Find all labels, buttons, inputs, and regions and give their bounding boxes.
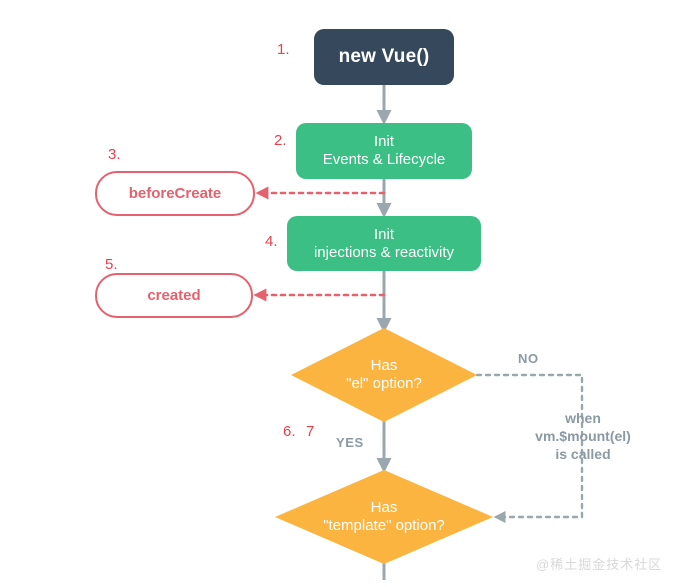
node-new-vue-label: new Vue() xyxy=(339,46,430,68)
step-number-5: 5. xyxy=(105,256,118,273)
step-number-4: 4. xyxy=(265,233,278,250)
node-has-template-line2: "template" option? xyxy=(323,517,445,535)
vue-lifecycle-diagram: new Vue() Init Events & Lifecycle before… xyxy=(0,0,693,587)
node-init-events-line2: Events & Lifecycle xyxy=(323,151,446,169)
node-has-el-line2: "el" option? xyxy=(346,375,422,393)
step-number-2: 2. xyxy=(274,132,287,149)
node-new-vue[interactable]: new Vue() xyxy=(314,29,454,85)
node-has-template-line1: Has xyxy=(371,499,398,517)
watermark: @稀土掘金技术社区 xyxy=(536,554,662,573)
node-init-injections-line2: injections & reactivity xyxy=(314,244,454,262)
side-note-line1: when xyxy=(503,410,663,428)
node-init-injections-line1: Init xyxy=(374,226,394,244)
step-number-6: 6. xyxy=(283,423,296,440)
node-has-el-line1: Has xyxy=(371,357,398,375)
step-number-3: 3. xyxy=(108,146,121,163)
node-created[interactable]: created xyxy=(95,273,253,318)
flow-label-yes: YES xyxy=(336,435,364,450)
step-number-1: 1. xyxy=(277,41,290,58)
node-before-create-label: beforeCreate xyxy=(129,185,222,203)
step-number-7: 7 xyxy=(306,423,314,440)
side-note-line2: vm.$mount(el) xyxy=(503,428,663,446)
side-note-mount-called: when vm.$mount(el) is called xyxy=(503,410,663,464)
node-before-create[interactable]: beforeCreate xyxy=(95,171,255,216)
flow-label-no: NO xyxy=(518,351,539,366)
node-init-events-lifecycle[interactable]: Init Events & Lifecycle xyxy=(296,123,472,179)
node-has-el-option[interactable]: Has "el" option? xyxy=(291,328,477,422)
side-note-line3: is called xyxy=(503,446,663,464)
node-has-template-option[interactable]: Has "template" option? xyxy=(275,470,493,564)
node-init-events-line1: Init xyxy=(374,133,394,151)
node-created-label: created xyxy=(147,287,200,305)
node-init-injections-reactivity[interactable]: Init injections & reactivity xyxy=(287,216,481,271)
